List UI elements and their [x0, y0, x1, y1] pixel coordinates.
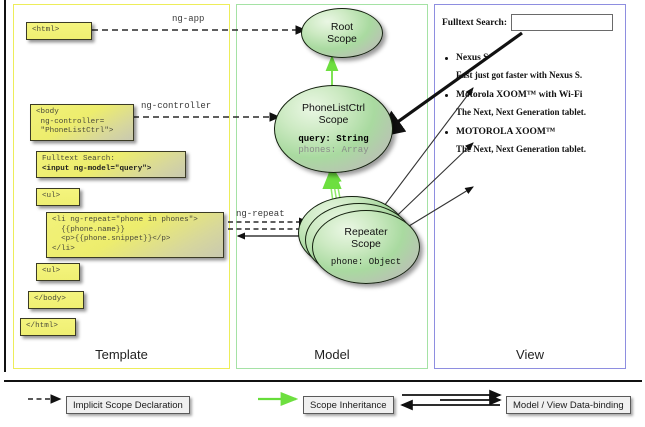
scope-phonelistctrl-prop-query: query: String: [298, 134, 368, 145]
view-list-item: Nexus S Fast just got faster with Nexus …: [442, 53, 622, 80]
code-box-ul-open-tag: <ul>: [36, 188, 80, 206]
view-item-title: MOTOROLA XOOM™: [442, 127, 622, 137]
scope-root: Root Scope: [301, 8, 383, 58]
bullet-icon: [445, 57, 448, 60]
view-search-row: Fulltext Search:: [442, 14, 622, 31]
scope-phonelistctrl: PhoneListCtrl Scope query: String phones…: [274, 85, 393, 173]
bullet-icon: [445, 131, 448, 134]
view-item-snippet: The Next, Next Generation tablet.: [442, 107, 622, 117]
code-box-ul-close-tag: <ul>: [36, 263, 80, 281]
scope-repeater-title-2: Scope: [351, 238, 381, 250]
column-label-view: View: [435, 347, 625, 362]
view-list-item: Motorola XOOM™ with Wi-Fi The Next, Next…: [442, 90, 622, 117]
fulltext-search-label: Fulltext Search:: [42, 155, 115, 163]
view-item-title: Motorola XOOM™ with Wi-Fi: [442, 90, 622, 100]
bullet-icon: [445, 94, 448, 97]
scope-root-title-1: Root: [331, 21, 353, 33]
view-item-snippet: Fast just got faster with Nexus S.: [442, 70, 622, 80]
view-search-label: Fulltext Search:: [442, 18, 507, 28]
fulltext-search-input-markup: <input ng-model="query">: [42, 165, 151, 173]
legend: Implicit Scope Declaration Scope Inherit…: [4, 380, 642, 424]
connector-label-ng-repeat: ng-repeat: [236, 209, 285, 219]
scope-repeater: Repeater Scope phone: Object: [312, 210, 420, 284]
view-item-title-text: Nexus S: [456, 53, 488, 63]
scope-phonelistctrl-title-1: PhoneListCtrl: [302, 102, 365, 114]
connector-label-ng-app: ng-app: [172, 14, 204, 24]
code-box-body-close-tag: </body>: [28, 291, 84, 309]
scope-phonelistctrl-prop-phones: phones: Array: [298, 145, 368, 156]
diagram-stage: Template Model View: [0, 0, 645, 425]
view-search-input[interactable]: [511, 14, 613, 31]
view-content: Fulltext Search: Nexus S Fast just got f…: [442, 14, 622, 154]
view-item-title-text: Motorola XOOM™ with Wi-Fi: [456, 90, 582, 100]
legend-entry-scope-inheritance: Scope Inheritance: [303, 396, 394, 414]
legend-label-scope-inheritance: Scope Inheritance: [303, 396, 394, 414]
view-list-item: MOTOROLA XOOM™ The Next, Next Generation…: [442, 127, 622, 154]
scope-phonelistctrl-title-2: Scope: [319, 114, 349, 126]
column-template: Template: [13, 4, 230, 369]
column-model: Model: [236, 4, 428, 369]
view-item-title-text: MOTOROLA XOOM™: [456, 127, 555, 137]
code-box-html-open-tag: <html>: [26, 22, 92, 40]
column-label-model: Model: [237, 347, 427, 362]
scope-repeater-title-1: Repeater: [344, 226, 387, 238]
legend-entry-model-view-data-binding: Model / View Data-binding: [506, 396, 631, 414]
view-item-title: Nexus S: [442, 53, 622, 63]
code-box-fulltext-search: Fulltext Search: <input ng-model="query"…: [36, 151, 186, 178]
scope-root-title-2: Scope: [327, 33, 357, 45]
connector-label-ng-controller: ng-controller: [141, 101, 211, 111]
legend-arrow-double: [402, 395, 500, 405]
code-box-body-tag: <body ng-controller= "PhoneListCtrl">: [30, 104, 134, 141]
legend-label-model-view-data-binding: Model / View Data-binding: [506, 396, 631, 414]
column-label-template: Template: [14, 347, 229, 362]
code-box-html-close-tag: </html>: [20, 318, 76, 336]
legend-entry-implicit-scope-declaration: Implicit Scope Declaration: [66, 396, 190, 414]
view-item-snippet: The Next, Next Generation tablet.: [442, 144, 622, 154]
scope-repeater-prop-phone: phone: Object: [331, 257, 401, 268]
code-box-li-ng-repeat: <li ng-repeat="phone in phones"> {{phone…: [46, 212, 224, 258]
legend-label-implicit-scope-declaration: Implicit Scope Declaration: [66, 396, 190, 414]
